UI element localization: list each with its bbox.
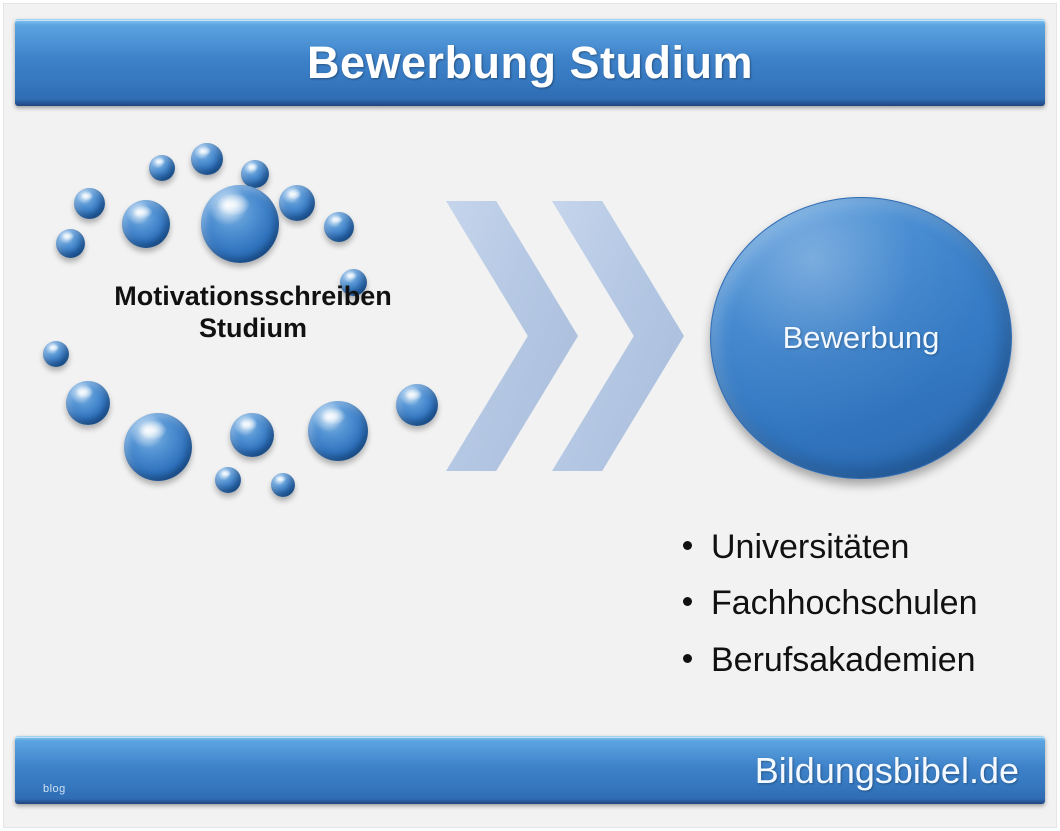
bubble-7 [122, 200, 170, 248]
result-circle-label: Bewerbung [783, 320, 940, 356]
list-item-label: Fachhochschulen [711, 575, 978, 631]
bubble-12 [66, 381, 110, 425]
list-item: Berufsakademien [683, 632, 1053, 688]
source-label: Motivationsschreiben Studium [43, 281, 463, 345]
bubble-6 [201, 185, 279, 263]
blog-label: blog [43, 783, 66, 795]
bubble-16 [396, 384, 438, 426]
brand-label: Bildungsbibel.de [755, 750, 1019, 792]
bubble-cluster-icon: Motivationsschreiben Studium [43, 133, 463, 513]
bubble-11 [43, 341, 69, 367]
source-label-line1: Motivationsschreiben [43, 281, 463, 313]
source-label-line2: Studium [43, 313, 463, 345]
bullet-icon [683, 654, 692, 663]
bubble-3 [241, 160, 269, 188]
bubble-5 [279, 185, 315, 221]
chevron-right-icon-1 [446, 201, 578, 471]
targets-list: Universitäten Fachhochschulen Berufsakad… [683, 519, 1053, 688]
bubble-14 [230, 413, 274, 457]
list-item-label: Berufsakademien [711, 632, 976, 688]
list-item: Fachhochschulen [683, 575, 1053, 631]
title-banner: Bewerbung Studium [15, 19, 1045, 106]
result-circle: Bewerbung [710, 197, 1012, 479]
bubble-15 [308, 401, 368, 461]
list-item-label: Universitäten [711, 519, 909, 575]
page-title: Bewerbung Studium [307, 37, 753, 89]
bubble-2 [149, 155, 175, 181]
bullet-icon [683, 597, 692, 606]
bubble-17 [215, 467, 241, 493]
bubble-8 [56, 229, 85, 258]
bubble-9 [324, 212, 354, 242]
slide-canvas: Bewerbung Studium Motivationsschreiben S… [0, 0, 1060, 831]
bubble-4 [74, 188, 105, 219]
bubble-13 [124, 413, 192, 481]
footer-banner: Bildungsbibel.de blog [15, 736, 1045, 804]
bullet-icon [683, 541, 692, 550]
bubble-1 [191, 143, 223, 175]
bubble-18 [271, 473, 295, 497]
list-item: Universitäten [683, 519, 1053, 575]
